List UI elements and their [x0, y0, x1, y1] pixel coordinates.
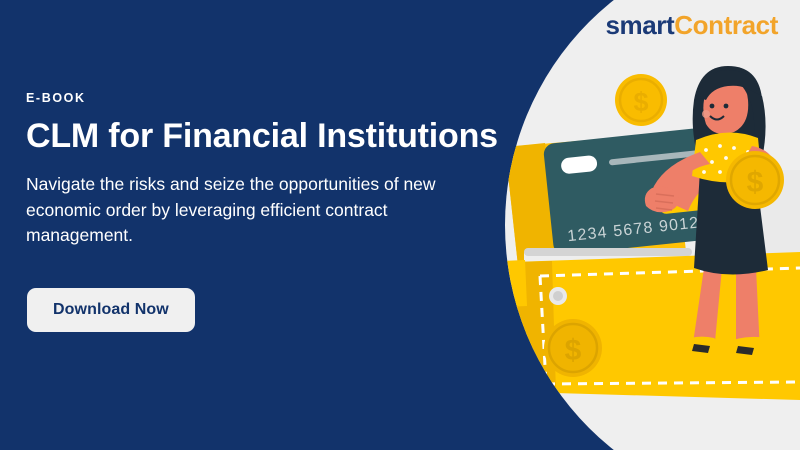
brand-logo[interactable]: smartContract — [605, 12, 778, 38]
logo-part-smart: smart — [605, 10, 674, 40]
ebook-promo-banner: 1234 5678 9012 3456 — [0, 0, 800, 450]
sub-copy: Navigate the risks and seize the opportu… — [26, 172, 488, 248]
coin-held-symbol: $ — [747, 166, 764, 199]
logo-part-contract: Contract — [674, 10, 778, 40]
coin-top-symbol: $ — [633, 87, 648, 117]
eye-right — [724, 104, 729, 109]
coin-bottom-symbol: $ — [565, 334, 582, 367]
gold-coin-top: $ — [615, 74, 667, 126]
hand — [645, 187, 679, 212]
gold-coin-held: $ — [726, 151, 784, 209]
download-now-button[interactable]: Download Now — [27, 288, 195, 332]
gold-coin-bottom: $ — [544, 319, 602, 377]
eyebrow-label: E-BOOK — [26, 92, 496, 105]
page-title: CLM for Financial Institutions — [26, 119, 496, 155]
wallet-strap — [478, 260, 527, 308]
copy-block: E-BOOK CLM for Financial Institutions Na… — [26, 92, 496, 248]
eye-left — [710, 104, 715, 109]
